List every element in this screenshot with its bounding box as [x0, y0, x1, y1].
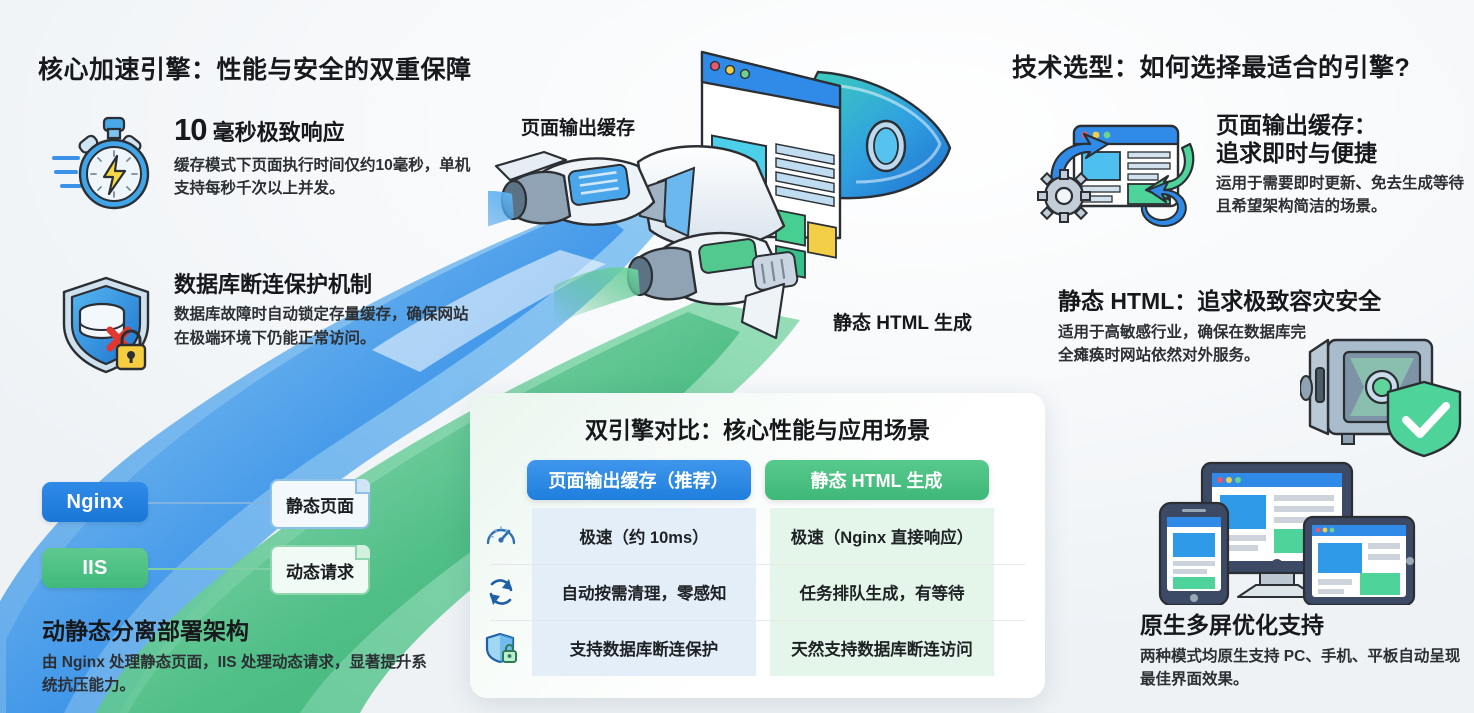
feature-speed-number: 10 [174, 112, 206, 147]
arch-target-dynamic-request[interactable]: 动态请求 [270, 545, 370, 595]
comparison-cell-cache: 自动按需清理，零感知 [532, 564, 756, 620]
right-feature-cache-title-line2: 追求即时与便捷 [1216, 140, 1377, 166]
right-feature-static: 静态 HTML：追求极致容灾安全 适用于高敏感行业，确保在数据库完全瘫痪时网站依… [1058, 288, 1474, 367]
arch-connector-iis [148, 568, 270, 570]
feature-speed-title: 10 毫秒极致响应 [174, 112, 474, 148]
right-feature-cache: 页面输出缓存： 追求即时与便捷 运用于需要即时更新、免去生成等待且希望架构简洁的… [1216, 112, 1472, 219]
feature-speed-title-rest: 毫秒极致响应 [206, 120, 344, 145]
section-heading-left: 核心加速引擎：性能与安全的双重保障 [38, 50, 472, 86]
comparison-header-cache[interactable]: 页面输出缓存（推荐） [527, 460, 751, 500]
multi-device-icon [1146, 455, 1426, 605]
comparison-cell-static: 天然支持数据库断连访问 [770, 620, 994, 676]
gauge-speed-icon [470, 508, 532, 564]
arch-target-static-page[interactable]: 静态页面 [270, 479, 370, 529]
shield-lock-icon [470, 620, 532, 676]
right-feature-static-desc: 适用于高敏感行业，确保在数据库完全瘫痪时网站依然对外服务。 [1058, 321, 1310, 368]
rocket-label-cache: 页面输出缓存 [521, 113, 635, 140]
comparison-title: 双引擎对比：核心性能与应用场景 [470, 411, 1045, 445]
feature-speed: 10 毫秒极致响应 缓存模式下页面执行时间仅约10毫秒，单机支持每秒千次以上并发… [52, 112, 474, 216]
refresh-sync-icon [470, 564, 532, 620]
arch-target-static-page-label: 静态页面 [286, 492, 354, 517]
arch-node-iis[interactable]: IIS [42, 548, 148, 588]
right-feature-multidevice-title: 原生多屏优化支持 [1140, 612, 1470, 640]
arch-connector-nginx [148, 502, 270, 504]
comparison-row: 自动按需清理，零感知 任务排队生成，有等待 [470, 564, 1045, 620]
shield-database-lock-icon [52, 272, 160, 376]
doc-fold-icon [355, 545, 370, 560]
architecture-desc: 由 Nginx 处理静态页面，IIS 处理动态请求，显著提升系统抗压能力。 [42, 651, 437, 698]
right-feature-cache-desc: 运用于需要即时更新、免去生成等待且希望架构简洁的场景。 [1216, 172, 1472, 219]
comparison-cell-cache: 极速（约 10ms） [532, 508, 756, 564]
comparison-cell-cache: 支持数据库断连保护 [532, 620, 756, 676]
comparison-cell-static: 任务排队生成，有等待 [770, 564, 994, 620]
arch-target-dynamic-request-label: 动态请求 [286, 558, 354, 583]
feature-db-title: 数据库断连保护机制 [174, 272, 474, 297]
comparison-column-headers: 页面输出缓存（推荐） 静态 HTML 生成 [470, 460, 1045, 500]
right-feature-static-title: 静态 HTML：追求极致容灾安全 [1058, 288, 1474, 316]
comparison-rows: 极速（约 10ms） 极速（Nginx 直接响应） 自动按需清理，零感知 任务排… [470, 508, 1045, 676]
rocket-label-static: 静态 HTML 生成 [833, 308, 972, 335]
right-feature-multidevice: 原生多屏优化支持 两种模式均原生支持 PC、手机、平板自动呈现最佳界面效果。 [1140, 612, 1470, 691]
stopwatch-lightning-icon [52, 112, 160, 216]
architecture-diagram: Nginx 静态页面 IIS 动态请求 [42, 478, 372, 593]
feature-db-desc: 数据库故障时自动锁定存量缓存，确保网站在极端环境下仍能正常访问。 [174, 303, 474, 350]
architecture-caption: 动静态分离部署架构 由 Nginx 处理静态页面，IIS 处理动态请求，显著提升… [42, 612, 437, 698]
right-feature-multidevice-desc: 两种模式均原生支持 PC、手机、平板自动呈现最佳界面效果。 [1140, 645, 1470, 692]
right-feature-cache-title: 页面输出缓存： 追求即时与便捷 [1216, 112, 1472, 167]
infographic-canvas: 核心加速引擎：性能与安全的双重保障 技术选型：如何选择最适合的引擎? [0, 0, 1474, 713]
arch-node-nginx[interactable]: Nginx [42, 482, 148, 522]
comparison-card: 双引擎对比：核心性能与应用场景 页面输出缓存（推荐） 静态 HTML 生成 [470, 393, 1045, 698]
comparison-row: 支持数据库断连保护 天然支持数据库断连访问 [470, 620, 1045, 676]
feature-db-protection: 数据库断连保护机制 数据库故障时自动锁定存量缓存，确保网站在极端环境下仍能正常访… [52, 272, 474, 376]
browser-refresh-gear-icon [1034, 108, 1206, 248]
doc-fold-icon [355, 479, 370, 494]
comparison-row: 极速（约 10ms） 极速（Nginx 直接响应） [470, 508, 1045, 564]
comparison-cell-static: 极速（Nginx 直接响应） [770, 508, 994, 564]
right-feature-cache-title-line1: 页面输出缓存： [1216, 112, 1377, 138]
feature-speed-desc: 缓存模式下页面执行时间仅约10毫秒，单机支持每秒千次以上并发。 [174, 154, 474, 201]
comparison-header-static[interactable]: 静态 HTML 生成 [765, 460, 989, 500]
section-heading-right: 技术选型：如何选择最适合的引擎? [1012, 48, 1410, 84]
architecture-title: 动静态分离部署架构 [42, 612, 437, 646]
